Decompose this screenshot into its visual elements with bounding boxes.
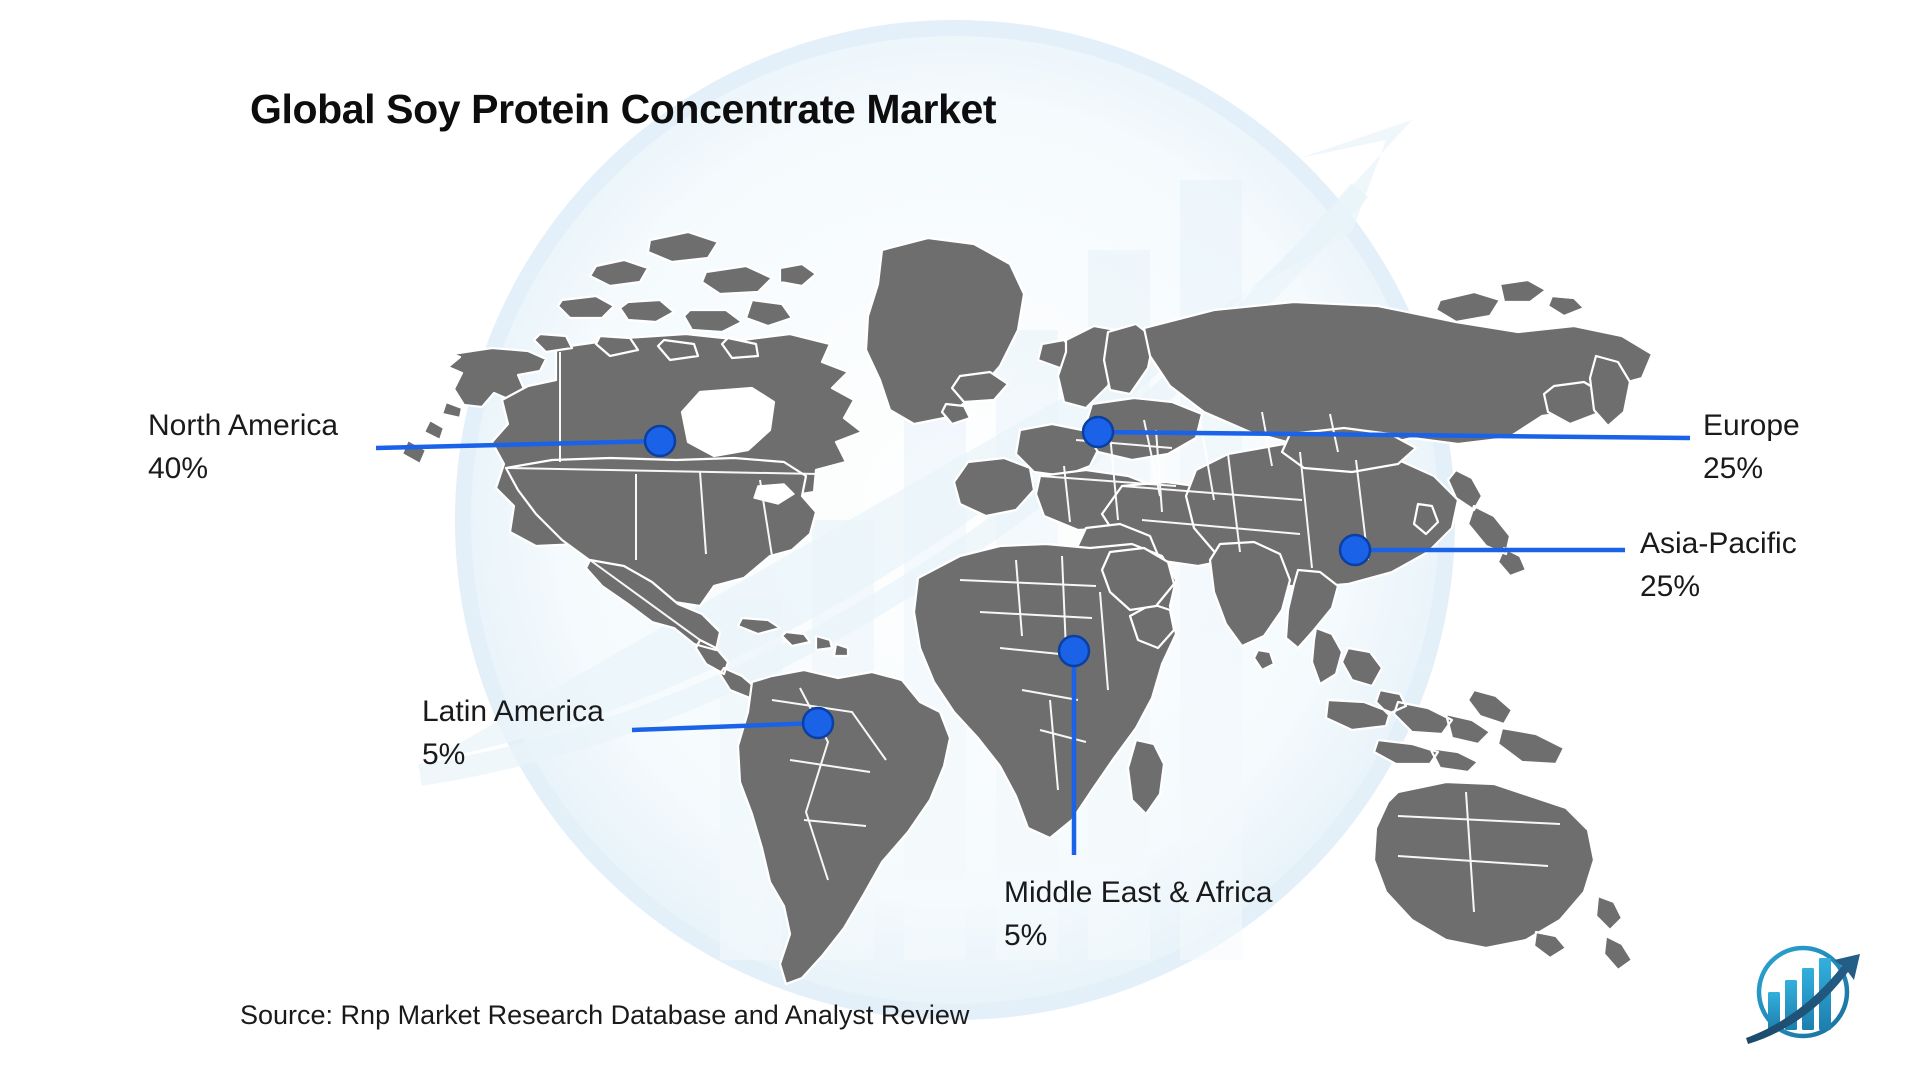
callout-europe: Europe 25%: [1703, 405, 1800, 490]
callout-asia-pacific-value: 25%: [1640, 566, 1797, 609]
callout-latin-america-value: 5%: [422, 734, 604, 777]
marker-europe[interactable]: [1083, 417, 1113, 447]
callout-north-america: North America 40%: [148, 405, 338, 490]
marker-latin-america[interactable]: [803, 708, 833, 738]
callout-asia-pacific: Asia-Pacific 25%: [1640, 523, 1797, 608]
callout-north-america-value: 40%: [148, 448, 338, 491]
callout-latin-america: Latin America 5%: [422, 691, 604, 776]
callout-middle-east-africa: Middle East & Africa 5%: [1004, 872, 1272, 957]
infographic-canvas: Global Soy Protein Concentrate Market: [0, 0, 1920, 1080]
callout-middle-east-africa-value: 5%: [1004, 915, 1272, 958]
source-note: Source: Rnp Market Research Database and…: [240, 1000, 969, 1031]
brand-logo-icon: [1738, 930, 1868, 1060]
callout-asia-pacific-label: Asia-Pacific: [1640, 527, 1797, 560]
callout-north-america-label: North America: [148, 409, 338, 442]
world-map: [0, 0, 1920, 1080]
marker-north-america[interactable]: [645, 426, 675, 456]
callout-europe-label: Europe: [1703, 409, 1800, 442]
callout-europe-value: 25%: [1703, 448, 1800, 491]
callout-middle-east-africa-label: Middle East & Africa: [1004, 876, 1272, 909]
marker-mea[interactable]: [1059, 636, 1089, 666]
marker-asia-pacific[interactable]: [1340, 535, 1370, 565]
callout-latin-america-label: Latin America: [422, 695, 604, 728]
